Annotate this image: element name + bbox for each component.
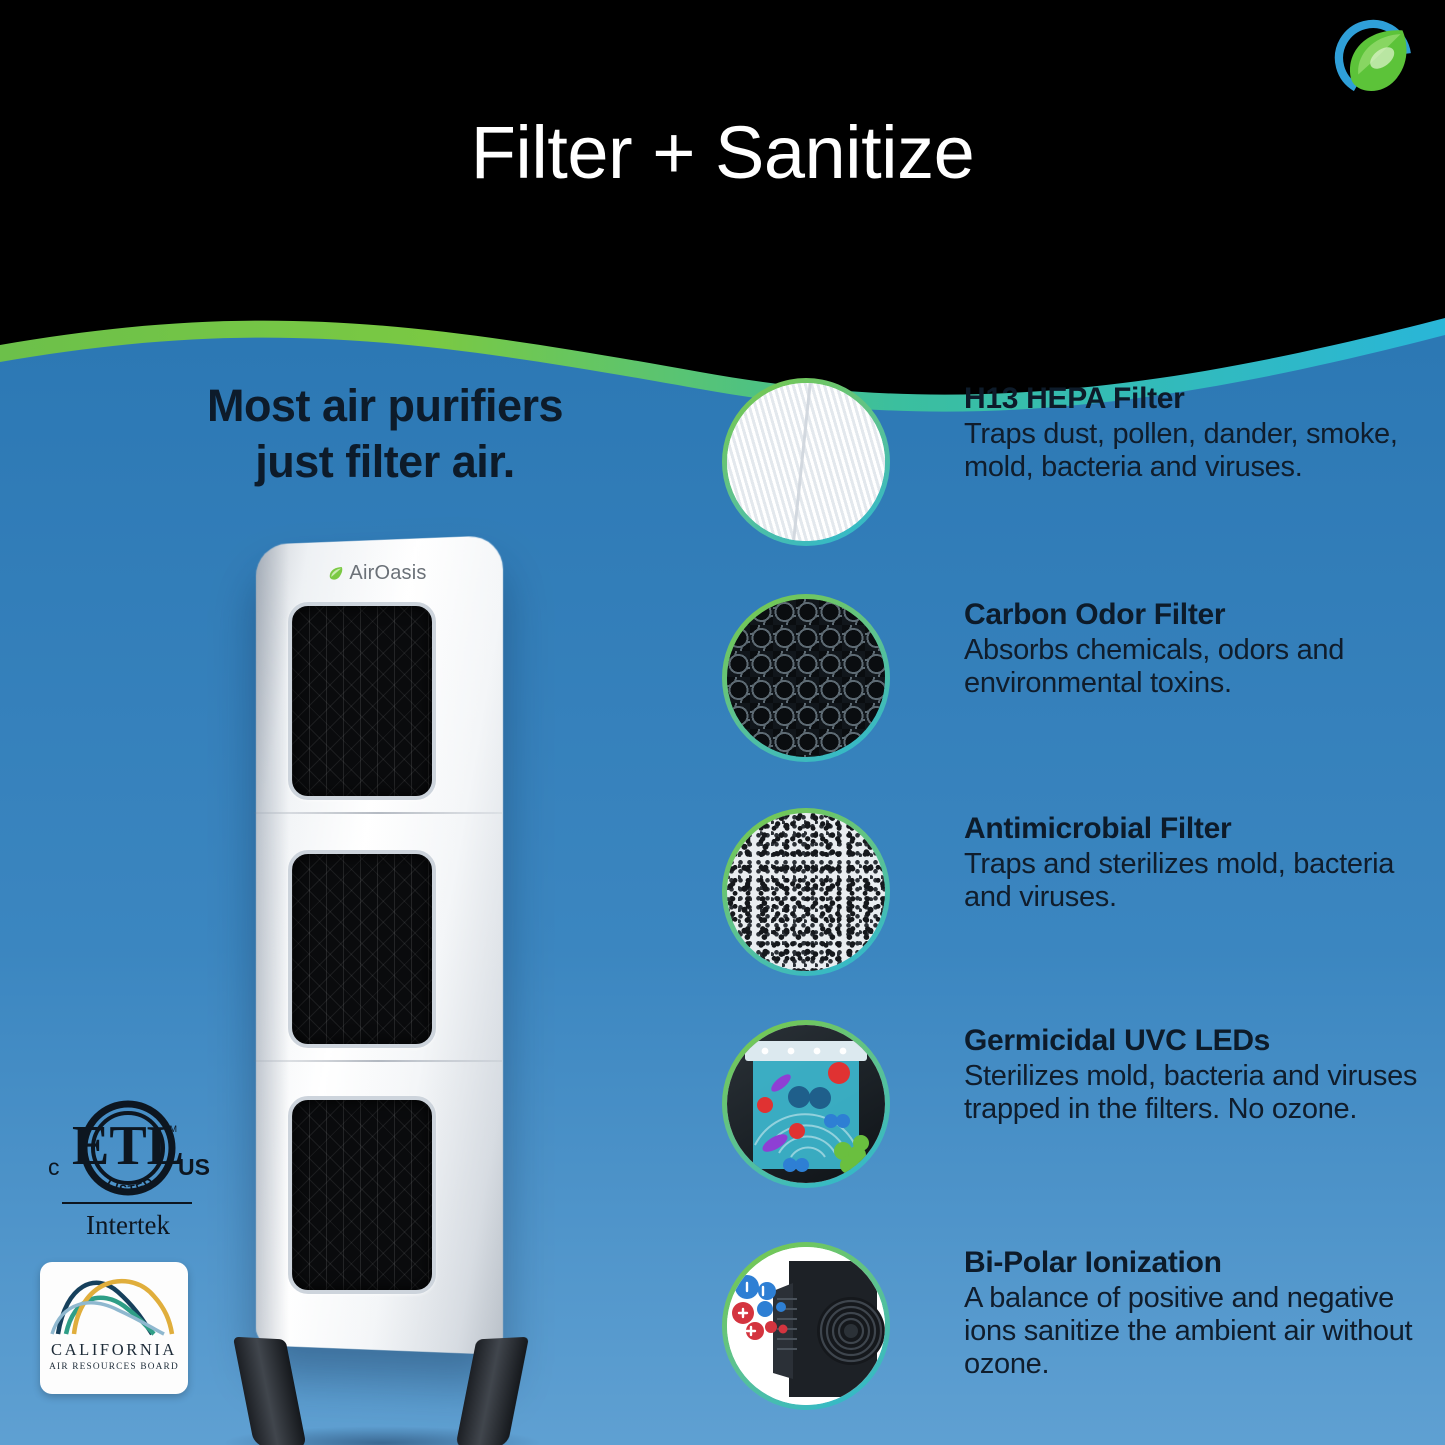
- etl-divider: [62, 1202, 192, 1204]
- infographic-canvas: Filter + Sanitize Most air purifiers jus…: [0, 0, 1445, 1445]
- feature-title: Bi-Polar Ionization: [964, 1246, 1424, 1280]
- ionizer-illustration: [727, 1247, 885, 1405]
- air-purifier-product-image: AirOasis: [232, 540, 522, 1360]
- left-headline: Most air purifiers just filter air.: [120, 378, 650, 491]
- uvc-led-thumbnail: [722, 1020, 890, 1188]
- etl-logo-icon: ETL LISTED TM: [38, 1098, 218, 1206]
- product-seam: [254, 1060, 502, 1062]
- etl-us-marker: US: [178, 1154, 210, 1181]
- etl-canada-marker: c: [48, 1154, 60, 1181]
- feature-title: H13 HEPA Filter: [964, 382, 1424, 416]
- product-brand-badge: AirOasis: [232, 562, 522, 585]
- hepa-filter-thumbnail: [722, 378, 890, 546]
- etl-mark: ETL LISTED TM c US: [38, 1098, 218, 1206]
- antimicrobial-filter-thumbnail: [722, 808, 890, 976]
- product-seam: [254, 812, 502, 814]
- feature-description: Absorbs chemicals, odors and environment…: [964, 634, 1424, 700]
- headline-line-2: just filter air.: [120, 434, 650, 490]
- page-title: Filter + Sanitize: [0, 110, 1445, 195]
- feature-title: Carbon Odor Filter: [964, 598, 1424, 632]
- carb-certification-badge: CALIFORNIA AIR RESOURCES BOARD: [40, 1262, 188, 1394]
- feature-title: Antimicrobial Filter: [964, 812, 1424, 846]
- etl-certification-badge: ETL LISTED TM c US Intertek: [38, 1098, 218, 1248]
- feature-description: Traps dust, pollen, dander, smoke, mold,…: [964, 418, 1424, 484]
- product-brand-label: AirOasis: [349, 562, 426, 585]
- feature-description: A balance of positive and negative ions …: [964, 1282, 1424, 1381]
- product-vent-panel: [288, 850, 436, 1048]
- leaf-icon: [327, 565, 344, 582]
- header-bar: Filter + Sanitize: [0, 0, 1445, 320]
- feature-description: Traps and sterilizes mold, bacteria and …: [964, 848, 1424, 914]
- ionizer-fan-thumbnail: [722, 1242, 890, 1410]
- carb-arcs-icon: [40, 1262, 188, 1342]
- uvc-illustration: [727, 1025, 885, 1183]
- svg-text:TM: TM: [164, 1124, 177, 1134]
- headline-line-1: Most air purifiers: [120, 378, 650, 434]
- carb-subtitle: AIR RESOURCES BOARD: [40, 1362, 188, 1372]
- product-vent-panel: [288, 1096, 436, 1294]
- etl-company-label: Intertek: [38, 1210, 218, 1241]
- carb-title: CALIFORNIA: [40, 1340, 188, 1360]
- feature-title: Germicidal UVC LEDs: [964, 1024, 1424, 1058]
- feature-description: Sterilizes mold, bacteria and viruses tr…: [964, 1060, 1424, 1126]
- leaf-logo-icon: [1327, 12, 1419, 104]
- carbon-filter-thumbnail: [722, 594, 890, 762]
- product-vent-panel: [288, 602, 436, 800]
